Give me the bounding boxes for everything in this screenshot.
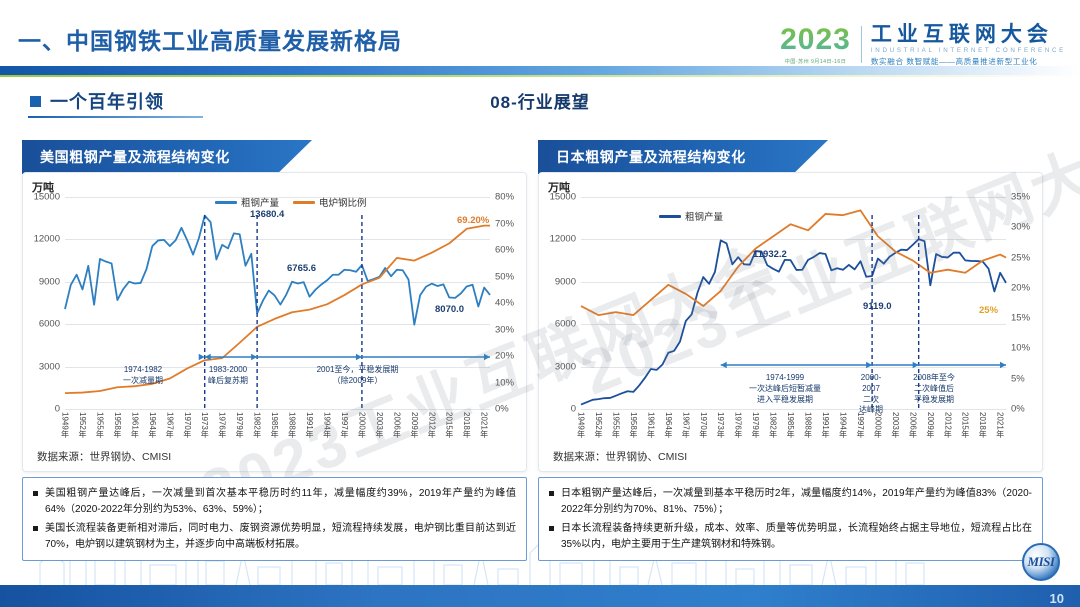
y-axis-tick-label: 12000	[550, 234, 576, 245]
y-axis-tick-label: 15000	[550, 192, 576, 203]
y2-axis-tick-label: 70%	[495, 218, 514, 229]
phase-arrow-head-icon	[251, 354, 257, 360]
x-axis-tick-label: 2018年	[977, 412, 988, 438]
chart-japan-plot: 030006000900012000150000%5%10%15%20%25%3…	[581, 197, 1006, 409]
data-point-label: 8070.0	[435, 304, 464, 315]
x-axis-tick-label: 1949年	[576, 412, 587, 438]
y-axis-tick-label: 12000	[34, 234, 60, 245]
y2-axis-tick-label: 30%	[1011, 222, 1030, 233]
x-axis-tick-label: 2003年	[890, 412, 901, 438]
y2-axis-tick-label: 35%	[1011, 192, 1030, 203]
legend-item: 粗钢产量	[659, 209, 723, 223]
x-axis-tick-label: 1973年	[715, 412, 726, 438]
chart-japan-card: 万吨 030006000900012000150000%5%10%15%20%2…	[538, 172, 1043, 472]
x-axis-tick-label: 1949年	[60, 412, 71, 438]
logo-title-en: INDUSTRIAL INTERNET CONFERENCE	[871, 47, 1066, 54]
x-axis-tick-label: 1976年	[217, 412, 228, 438]
x-axis-tick-label: 1952年	[77, 412, 88, 438]
note-usa-item: 美国长流程装备更新相对滞后，同时电力、废钢资源优势明显，短流程持续发展，电炉钢比…	[32, 521, 516, 552]
note-japan-item: 日本长流程装备持续更新升级，成本、效率、质量等优势明显，长流程始终占据主导地位，…	[548, 521, 1032, 552]
x-axis-tick-label: 1967年	[680, 412, 691, 438]
data-point-label: 69.20%	[457, 215, 489, 226]
x-axis-tick-label: 1982年	[768, 412, 779, 438]
x-axis-tick-label: 2018年	[461, 412, 472, 438]
y2-axis-tick-label: 10%	[495, 377, 514, 388]
logo-year-sub: 中国·苏州 9月14日-16日	[780, 58, 851, 65]
x-axis-tick-label: 2003年	[374, 412, 385, 438]
data-point-label: 25%	[979, 305, 998, 316]
y2-axis-tick-label: 0%	[495, 404, 509, 415]
y-axis-tick-label: 3000	[39, 361, 60, 372]
x-axis-tick-label: 1970年	[698, 412, 709, 438]
phase-arrow-head-icon	[866, 362, 872, 368]
panel-usa: 美国粗钢产量及流程结构变化 万吨 03000600090001200015000…	[22, 140, 527, 472]
y-axis-tick-label: 9000	[39, 276, 60, 287]
phase-annotation: 2000- 2007 二次 达峰期	[853, 373, 889, 416]
panel-usa-title-band: 美国粗钢产量及流程结构变化	[22, 140, 312, 174]
section-center-label: 08-行业展望	[0, 88, 1080, 113]
x-axis-tick-label: 2015年	[960, 412, 971, 438]
x-axis-tick-label: 1964年	[147, 412, 158, 438]
legend-swatch	[659, 215, 681, 218]
x-axis-tick-label: 1985年	[785, 412, 796, 438]
y2-axis-tick-label: 30%	[495, 324, 514, 335]
note-japan: 日本粗钢产量达峰后，一次减量到基本平稳历时2年，减量幅度约14%，2019年产量…	[538, 477, 1043, 561]
x-axis-tick-label: 2012年	[426, 412, 437, 438]
data-point-label: 13680.4	[250, 209, 284, 220]
logo-title-cn: 工业互联网大会	[871, 24, 1066, 46]
page-number: 10	[1050, 591, 1064, 606]
x-axis-tick-label: 1958年	[628, 412, 639, 438]
note-usa-item: 美国粗钢产量达峰后，一次减量到首次基本平稳历时约11年，减量幅度约39%，201…	[32, 486, 516, 517]
x-axis-tick-label: 2000年	[356, 412, 367, 438]
legend-label: 电炉钢比例	[319, 195, 367, 209]
logo-text-block: 工业互联网大会 INDUSTRIAL INTERNET CONFERENCE 数…	[871, 24, 1066, 67]
x-axis-tick-label: 1979年	[750, 412, 761, 438]
x-axis-tick-label: 1973年	[199, 412, 210, 438]
legend-swatch	[293, 201, 315, 204]
misi-logo-text: MISI	[1028, 554, 1055, 570]
x-axis-tick-label: 2006年	[391, 412, 402, 438]
panel-usa-header: 美国粗钢产量及流程结构变化	[22, 140, 527, 174]
y2-axis-tick-label: 60%	[495, 245, 514, 256]
x-axis-tick-label: 1961年	[129, 412, 140, 438]
y-axis-tick-label: 6000	[555, 319, 576, 330]
y2-axis-tick-label: 0%	[1011, 404, 1025, 415]
x-axis-tick-label: 1961年	[645, 412, 656, 438]
x-axis-tick-label: 2021年	[479, 412, 490, 438]
data-point-label: 9119.0	[863, 301, 892, 312]
phase-annotation: 2008年至今 二次峰值后 平稳发展期	[895, 373, 973, 405]
legend-item: 粗钢产量	[215, 195, 279, 209]
series-line	[581, 210, 1006, 315]
logo-divider	[861, 26, 862, 63]
chart-legend: 粗钢产量	[659, 209, 723, 223]
phase-arrow-head-icon	[484, 354, 490, 360]
phase-annotation: 1983-2000 峰后复苏期	[183, 365, 273, 387]
x-axis-tick-label: 1979年	[234, 412, 245, 438]
note-usa: 美国粗钢产量达峰后，一次减量到首次基本平稳历时约11年，减量幅度约39%，201…	[22, 477, 527, 561]
legend-item: 电炉钢比例	[293, 195, 367, 209]
x-axis-tick-label: 1994年	[321, 412, 332, 438]
y-axis-tick-label: 15000	[34, 192, 60, 203]
phase-arrow-head-icon	[913, 362, 919, 368]
note-usa-list: 美国粗钢产量达峰后，一次减量到首次基本平稳历时约11年，减量幅度约39%，201…	[32, 486, 516, 552]
phase-arrow-head-icon	[721, 362, 727, 368]
y2-axis-tick-label: 20%	[1011, 282, 1030, 293]
chart-usa-plot: 030006000900012000150000%10%20%30%40%50%…	[65, 197, 490, 409]
x-axis-tick-label: 1997年	[339, 412, 350, 438]
phase-annotation: 2001至今，平稳发展期 （除2009年）	[275, 365, 440, 387]
x-axis-tick-label: 1976年	[733, 412, 744, 438]
phase-arrow-head-icon	[199, 354, 205, 360]
x-axis-tick-label: 2021年	[995, 412, 1006, 438]
y2-axis-tick-label: 80%	[495, 192, 514, 203]
x-axis-tick-label: 1967年	[164, 412, 175, 438]
footer-band	[0, 585, 1080, 607]
page-title: 一、中国钢铁工业高质量发展新格局	[18, 22, 402, 56]
x-axis-tick-label: 1982年	[252, 412, 263, 438]
phase-arrow-head-icon	[1000, 362, 1006, 368]
logo-year-block: 2023 中国·苏州 9月14日-16日	[780, 24, 861, 65]
phase-annotation: 1974-1999 一次达峰后短暂减量 进入平稳发展期	[721, 373, 849, 405]
data-point-label: 6765.6	[287, 263, 316, 274]
chart-legend: 粗钢产量电炉钢比例	[215, 195, 367, 209]
y2-axis-tick-label: 15%	[1011, 313, 1030, 324]
legend-label: 粗钢产量	[241, 195, 279, 209]
panel-japan-header: 日本粗钢产量及流程结构变化	[538, 140, 1043, 174]
legend-swatch	[215, 201, 237, 204]
y2-axis-tick-label: 40%	[495, 298, 514, 309]
phase-annotation: 1974-1982 一次减量期	[110, 365, 176, 387]
chart-usa-card: 万吨 030006000900012000150000%10%20%30%40%…	[22, 172, 527, 472]
x-axis-tick-label: 1955年	[94, 412, 105, 438]
x-axis-tick-label: 1988年	[287, 412, 298, 438]
logo-slogan: 数实融合 数智赋能——高质量推进新型工业化	[871, 56, 1066, 67]
chart-japan-source: 数据来源：世界钢协、CMISI	[553, 449, 687, 464]
y-axis-tick-label: 9000	[555, 276, 576, 287]
phase-arrow-head-icon	[356, 354, 362, 360]
x-axis-tick-label: 2012年	[942, 412, 953, 438]
x-axis-tick-label: 2009年	[409, 412, 420, 438]
y2-axis-tick-label: 50%	[495, 271, 514, 282]
note-japan-list: 日本粗钢产量达峰后，一次减量到基本平稳历时2年，减量幅度约14%，2019年产量…	[548, 486, 1032, 552]
x-axis-tick-label: 2009年	[925, 412, 936, 438]
y2-axis-tick-label: 20%	[495, 351, 514, 362]
x-axis-tick-label: 1970年	[182, 412, 193, 438]
misi-logo: MISI	[1022, 543, 1060, 581]
chart-usa-source: 数据来源：世界钢协、CMISI	[37, 449, 171, 464]
data-point-label: 11932.2	[753, 249, 787, 260]
y2-axis-tick-label: 10%	[1011, 343, 1030, 354]
x-axis-tick-label: 1958年	[112, 412, 123, 438]
section-underline	[28, 116, 203, 118]
legend-label: 粗钢产量	[685, 209, 723, 223]
panel-usa-title: 美国粗钢产量及流程结构变化	[22, 147, 230, 167]
series-line	[65, 216, 490, 325]
panel-japan: 日本粗钢产量及流程结构变化 万吨 03000600090001200015000…	[538, 140, 1043, 472]
x-axis-tick-label: 1994年	[837, 412, 848, 438]
x-axis-tick-label: 1964年	[663, 412, 674, 438]
y2-axis-tick-label: 5%	[1011, 373, 1025, 384]
x-axis-tick-label: 1955年	[610, 412, 621, 438]
y2-axis-tick-label: 25%	[1011, 252, 1030, 263]
y-axis-tick-label: 3000	[555, 361, 576, 372]
x-axis-tick-label: 2006年	[907, 412, 918, 438]
conference-logo: 2023 中国·苏州 9月14日-16日 工业互联网大会 INDUSTRIAL …	[780, 24, 1066, 67]
grid-line	[65, 409, 490, 410]
title-divider-green	[0, 75, 1080, 77]
y-axis-tick-label: 6000	[39, 319, 60, 330]
grid-line	[581, 409, 1006, 410]
x-axis-tick-label: 1988年	[803, 412, 814, 438]
x-axis-tick-label: 1985年	[269, 412, 280, 438]
logo-year: 2023	[780, 24, 851, 56]
panel-japan-title-band: 日本粗钢产量及流程结构变化	[538, 140, 828, 174]
x-axis-tick-label: 2015年	[444, 412, 455, 438]
note-japan-item: 日本粗钢产量达峰后，一次减量到基本平稳历时2年，减量幅度约14%，2019年产量…	[548, 486, 1032, 517]
panel-japan-title: 日本粗钢产量及流程结构变化	[538, 147, 746, 167]
x-axis-tick-label: 1952年	[593, 412, 604, 438]
x-axis-tick-label: 1991年	[820, 412, 831, 438]
title-divider-blue	[0, 66, 1080, 75]
x-axis-tick-label: 1991年	[304, 412, 315, 438]
